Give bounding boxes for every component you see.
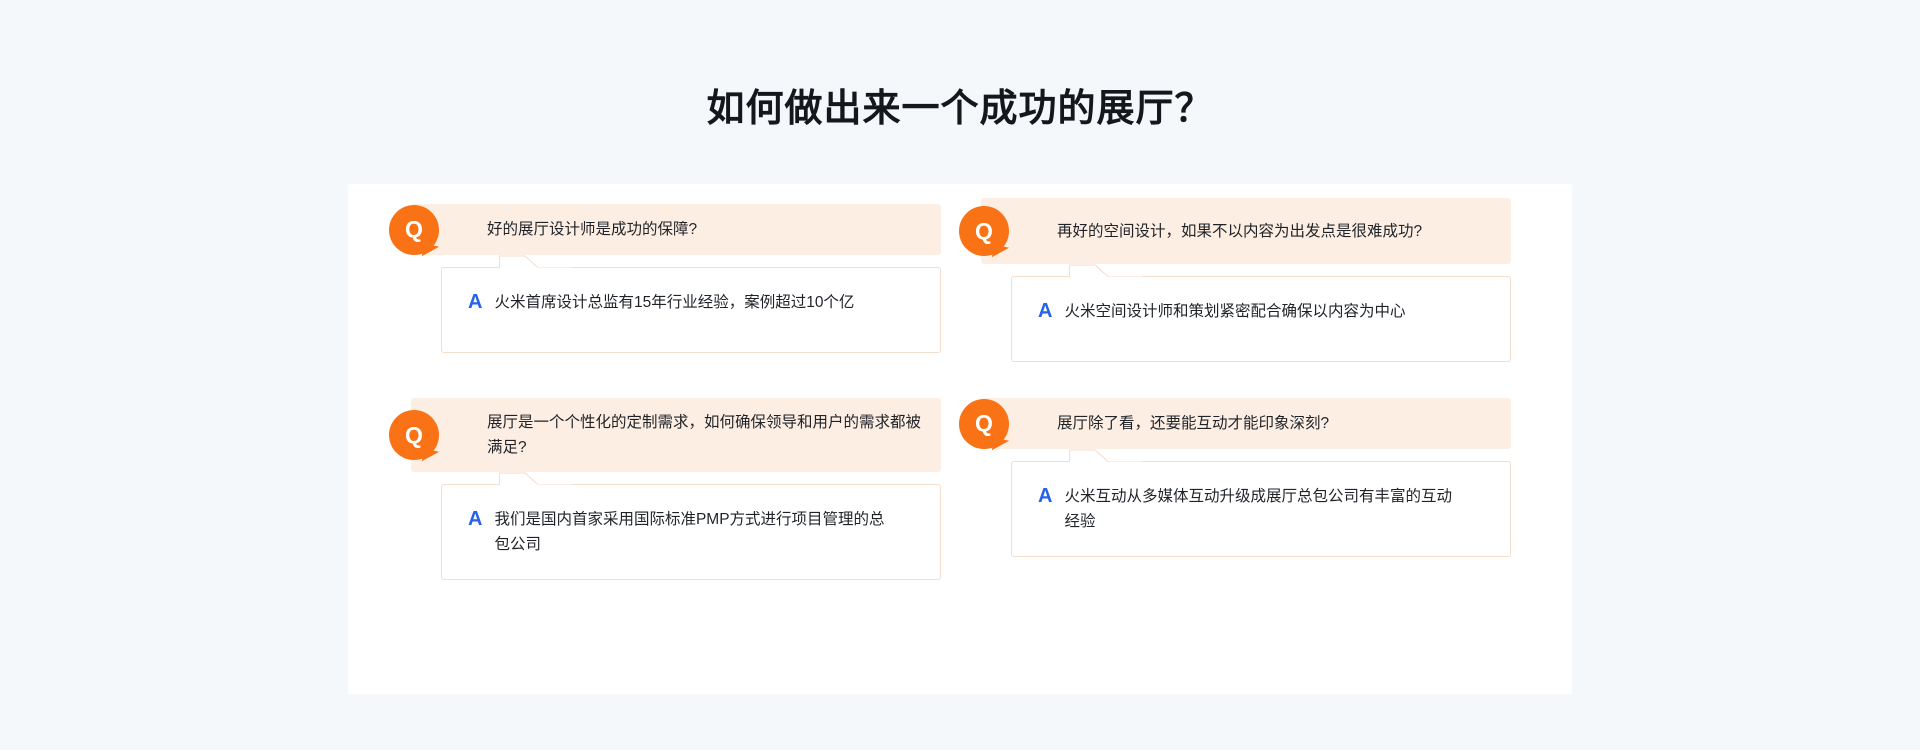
answer-badge-letter: A <box>468 507 482 531</box>
answer-card: A 火米首席设计总监有15年行业经验，案例超过10个亿 <box>441 267 941 353</box>
answer-text: 我们是国内首家采用国际标准PMP方式进行项目管理的总包公司 <box>494 507 894 557</box>
answer-wrapper: A 火米空间设计师和策划紧密配合确保以内容为中心 <box>1011 276 1511 362</box>
answer-card: A 火米互动从多媒体互动升级成展厅总包公司有丰富的互动经验 <box>1011 461 1511 557</box>
page-title: 如何做出来一个成功的展厅？ <box>0 87 1920 133</box>
faq-columns: Q 好的展厅设计师是成功的保障? A <box>348 184 1572 694</box>
answer-badge-letter: A <box>468 290 482 314</box>
answer-wrapper: A 火米互动从多媒体互动升级成展厅总包公司有丰富的互动经验 <box>1011 461 1511 557</box>
qa-block: Q 好的展厅设计师是成功的保障? A <box>411 204 941 353</box>
answer-text: 火米空间设计师和策划紧密配合确保以内容为中心 <box>1064 299 1405 324</box>
answer-wrapper: A 火米首席设计总监有15年行业经验，案例超过10个亿 <box>441 267 941 353</box>
question-bubble[interactable]: Q 展厅除了看，还要能互动才能印象深刻? <box>981 398 1511 449</box>
question-text: 展厅是一个个性化的定制需求，如何确保领导和用户的需求都被满足? <box>487 410 923 460</box>
question-badge-letter: Q <box>389 410 439 460</box>
answer-notch-icon <box>1069 264 1143 277</box>
question-badge-letter: Q <box>959 206 1009 256</box>
answer-wrapper: A 我们是国内首家采用国际标准PMP方式进行项目管理的总包公司 <box>441 484 941 580</box>
question-badge-icon: Q <box>959 206 1009 256</box>
answer-card: A 我们是国内首家采用国际标准PMP方式进行项目管理的总包公司 <box>441 484 941 580</box>
question-badge-letter: Q <box>959 399 1009 449</box>
question-badge-icon: Q <box>389 410 439 460</box>
qa-block: Q 再好的空间设计，如果不以内容为出发点是很难成功? <box>981 198 1511 362</box>
answer-badge-letter: A <box>1038 299 1052 323</box>
question-bubble[interactable]: Q 展厅是一个个性化的定制需求，如何确保领导和用户的需求都被满足? <box>411 398 941 472</box>
answer-notch-icon <box>499 255 573 268</box>
answer-notch-icon <box>1069 449 1143 462</box>
qa-block: Q 展厅是一个个性化的定制需求，如何确保领导和用户的需求都被满足? <box>411 398 941 580</box>
question-badge-letter: Q <box>389 205 439 255</box>
answer-badge-letter: A <box>1038 484 1052 508</box>
qa-block: Q 展厅除了看，还要能互动才能印象深刻? <box>981 398 1511 557</box>
answer-text: 火米首席设计总监有15年行业经验，案例超过10个亿 <box>494 290 854 315</box>
question-badge-icon: Q <box>959 399 1009 449</box>
faq-panel: Q 好的展厅设计师是成功的保障? A <box>348 184 1572 694</box>
answer-card: A 火米空间设计师和策划紧密配合确保以内容为中心 <box>1011 276 1511 362</box>
faq-page: 如何做出来一个成功的展厅？ Q 好的展厅设计师是成功的保障? <box>0 0 1920 750</box>
question-text: 好的展厅设计师是成功的保障? <box>487 217 697 242</box>
question-bubble[interactable]: Q 再好的空间设计，如果不以内容为出发点是很难成功? <box>981 198 1511 264</box>
question-badge-icon: Q <box>389 205 439 255</box>
question-text: 再好的空间设计，如果不以内容为出发点是很难成功? <box>1057 219 1422 244</box>
question-text: 展厅除了看，还要能互动才能印象深刻? <box>1057 411 1329 436</box>
question-bubble[interactable]: Q 好的展厅设计师是成功的保障? <box>411 204 941 255</box>
answer-notch-icon <box>499 472 573 485</box>
answer-text: 火米互动从多媒体互动升级成展厅总包公司有丰富的互动经验 <box>1064 484 1464 534</box>
